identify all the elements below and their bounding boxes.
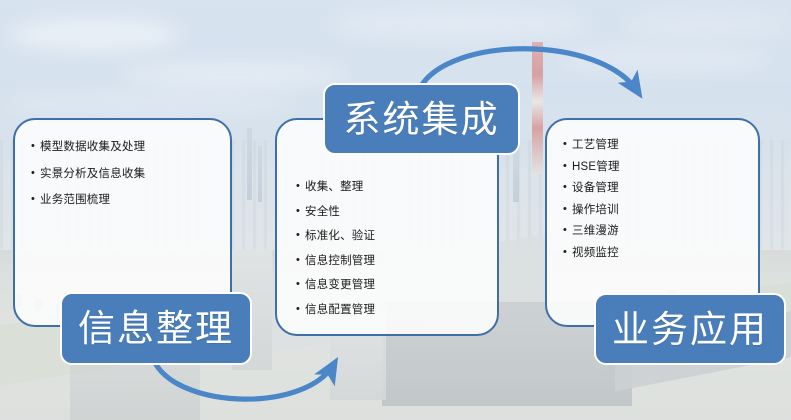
list-item: 设备管理 <box>563 183 758 195</box>
stage-label-information-organization[interactable]: 信息整理 <box>60 292 252 365</box>
list-item: 信息变更管理 <box>296 280 497 292</box>
stage-right-item-list: 工艺管理 HSE管理 设备管理 操作培训 三维漫游 视频监控 <box>547 120 758 259</box>
list-item: 工艺管理 <box>563 140 758 152</box>
stage-label-system-integration[interactable]: 系统集成 <box>323 83 520 155</box>
list-item: 信息控制管理 <box>296 256 497 268</box>
stage-label-business-application[interactable]: 业务应用 <box>594 293 786 365</box>
list-item: 信息配置管理 <box>296 305 497 317</box>
diagram-canvas: 模型数据收集及处理 实景分析及信息收集 业务范围梳理 收集、整理 安全性 标准化… <box>0 0 791 420</box>
list-item: 实景分析及信息收集 <box>31 169 230 181</box>
list-item: 业务范围梳理 <box>31 195 230 207</box>
list-item: 视频监控 <box>563 248 758 260</box>
list-item: 操作培训 <box>563 205 758 217</box>
list-item: 标准化、验证 <box>296 231 497 243</box>
list-item: 安全性 <box>296 207 497 219</box>
stage-left-item-list: 模型数据收集及处理 实景分析及信息收集 业务范围梳理 <box>15 120 230 207</box>
list-item: 模型数据收集及处理 <box>31 142 230 154</box>
list-item: HSE管理 <box>563 162 758 174</box>
list-item: 收集、整理 <box>296 182 497 194</box>
list-item: 三维漫游 <box>563 226 758 238</box>
